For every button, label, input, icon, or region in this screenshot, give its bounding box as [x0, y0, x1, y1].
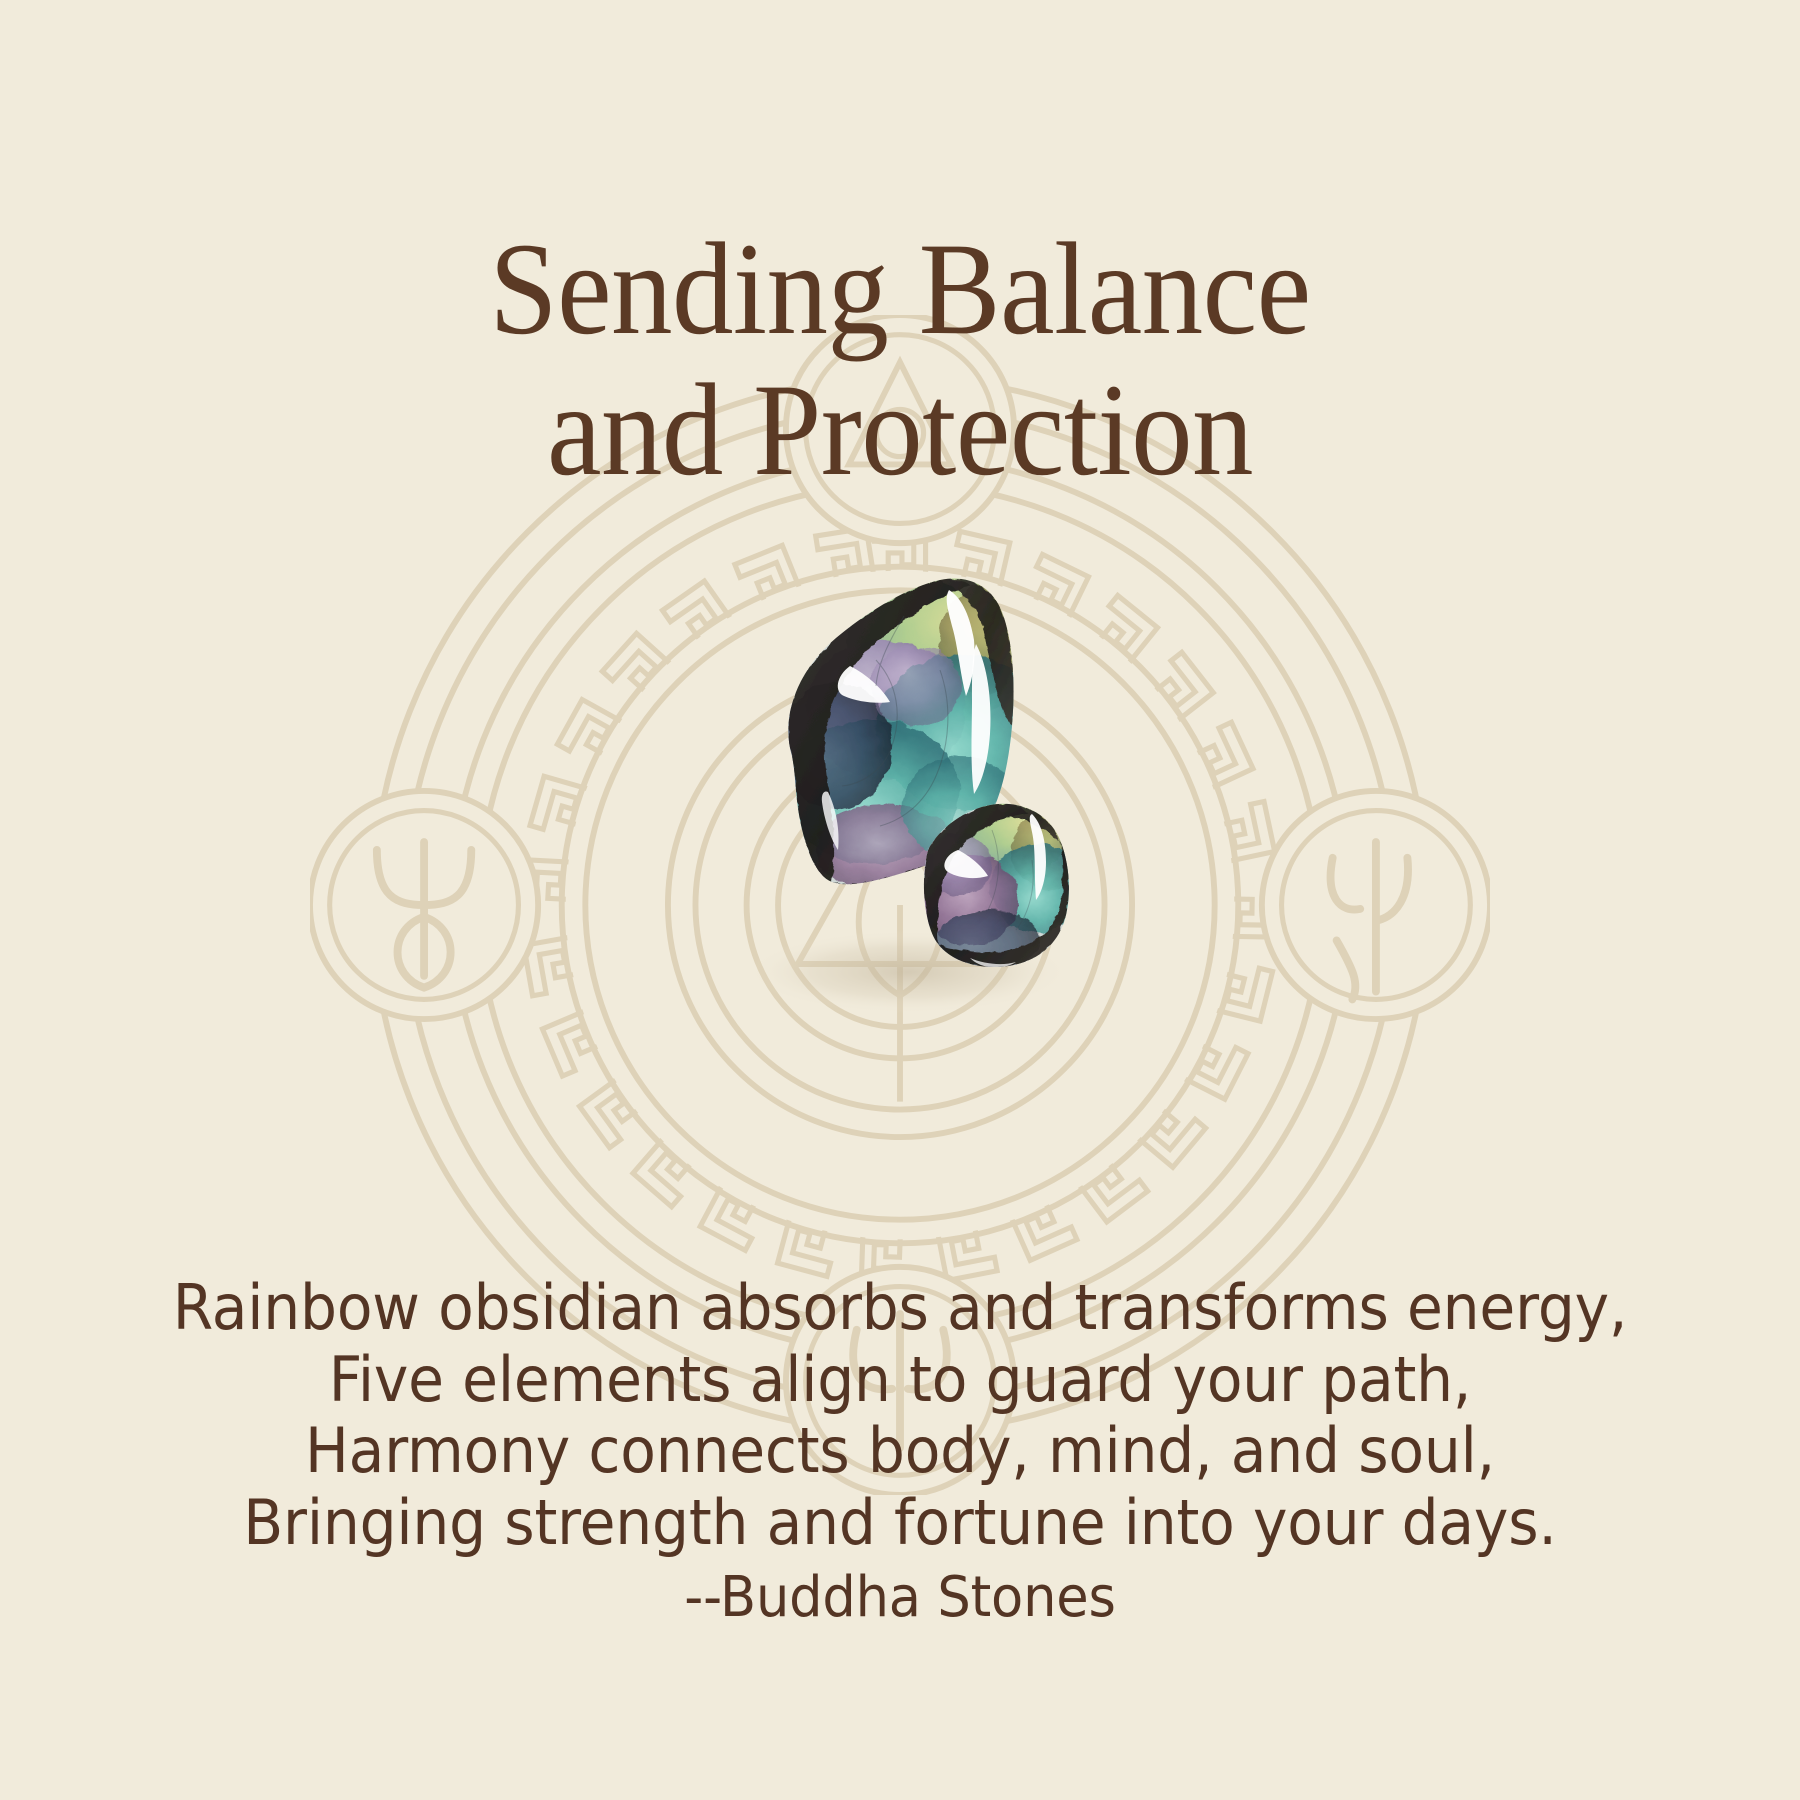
poem-block: Rainbow obsidian absorbs and transforms … [0, 1272, 1800, 1558]
medallion-west [310, 791, 538, 1019]
poem-line-1: Rainbow obsidian absorbs and transforms … [54, 1272, 1746, 1344]
medallion-east [1262, 791, 1490, 1019]
attribution-text: --Buddha Stones [54, 1565, 1746, 1630]
poster-title: Sending Balance and Protection [0, 218, 1800, 500]
poster-canvas: Sending Balance and Protection [0, 0, 1800, 1800]
title-line-1: Sending Balance [63, 218, 1737, 359]
title-line-2: and Protection [63, 359, 1737, 500]
poem-line-4: Bringing strength and fortune into your … [54, 1487, 1746, 1559]
poem-line-3: Harmony connects body, mind, and soul, [54, 1415, 1746, 1487]
poem-line-2: Five elements align to guard your path, [54, 1344, 1746, 1416]
rainbow-obsidian-stone-image [640, 520, 1160, 1040]
